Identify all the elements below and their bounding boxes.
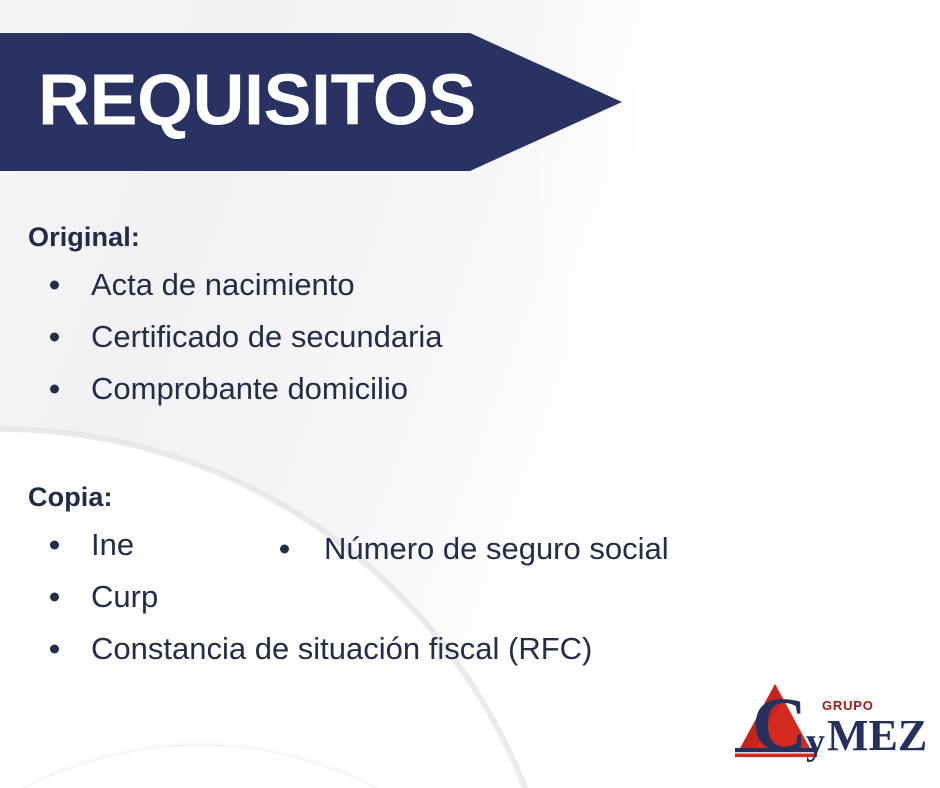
section-heading-original: Original: [28, 222, 443, 253]
bullet-icon [50, 385, 59, 394]
logo-wordmark-mez: MEZ [827, 711, 927, 760]
bullet-icon [280, 544, 289, 553]
list-item-label: Comprobante domicilio [91, 371, 408, 406]
list-item-label: Constancia de situación fiscal (RFC) [91, 631, 592, 666]
list-item-label: Número de seguro social [324, 531, 669, 566]
list-item: Número de seguro social [262, 530, 669, 567]
section-heading-copia: Copia: [28, 482, 592, 513]
list-item-label: Certificado de secundaria [91, 319, 443, 354]
requirements-list-original: Acta de nacimiento Certificado de secund… [28, 259, 443, 415]
bullet-icon [50, 593, 59, 602]
bullet-icon [50, 541, 59, 550]
section-original: Original: Acta de nacimiento Certificado… [28, 222, 443, 415]
list-item-label: Curp [91, 579, 158, 614]
poster-canvas: REQUISITOS Original: Acta de nacimiento … [0, 0, 940, 788]
list-item: Curp [28, 571, 592, 623]
bullet-icon [50, 645, 59, 654]
list-item: Constancia de situación fiscal (RFC) [28, 623, 592, 675]
logo-wordmark-y: y [806, 721, 825, 763]
list-item: Comprobante domicilio [28, 363, 443, 415]
requirements-list-copia-secondary: Número de seguro social [262, 530, 669, 567]
list-item: Certificado de secundaria [28, 311, 443, 363]
bullet-icon [50, 281, 59, 290]
section-copia-column-2: Número de seguro social [262, 530, 669, 567]
list-item-label: Ine [91, 527, 134, 562]
list-item-label: Acta de nacimiento [91, 267, 355, 302]
content-area: Original: Acta de nacimiento Certificado… [0, 0, 940, 788]
list-item: Acta de nacimiento [28, 259, 443, 311]
bullet-icon [50, 333, 59, 342]
logo-monogram-c: C [752, 683, 807, 767]
brand-logo: C GRUPO y MEZ [730, 678, 930, 770]
section-copia: Copia: Ine Curp Constancia de situación … [28, 482, 592, 675]
